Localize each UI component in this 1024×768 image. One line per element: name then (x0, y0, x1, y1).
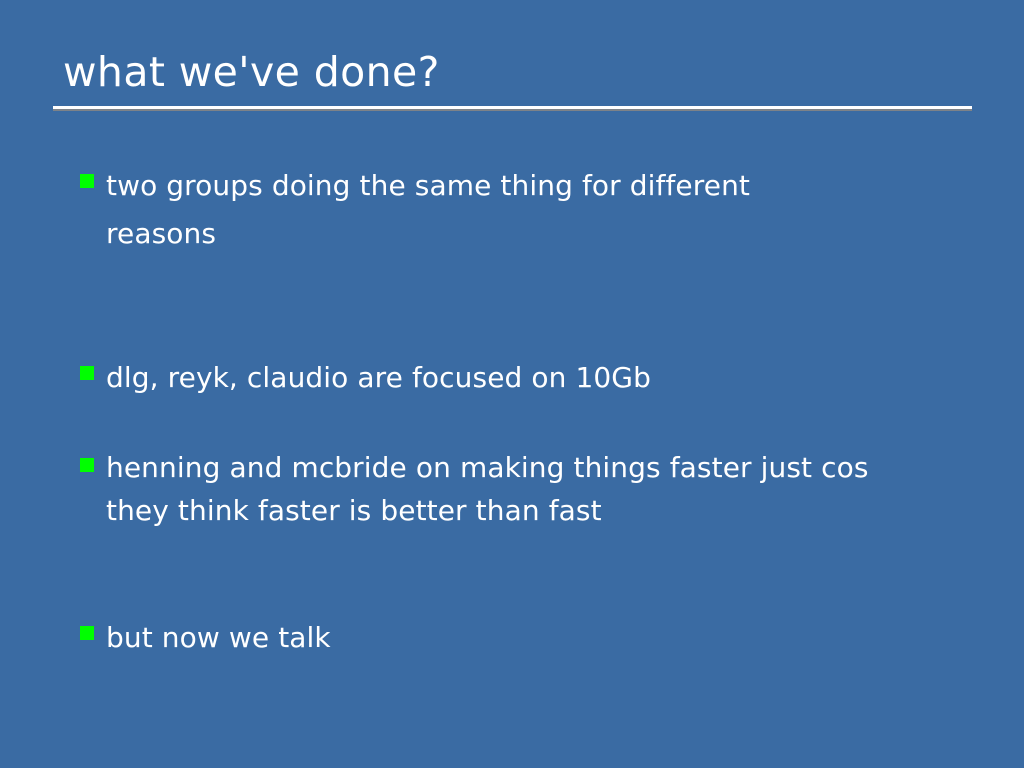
bullet-list-item-text: dlg, reyk, claudio are focused on 10Gb (106, 354, 980, 402)
title-divider-rule (53, 106, 972, 111)
bullet-list-item-text: henning and mcbride on making things fas… (106, 446, 980, 532)
bullet-list-item: but now we talk (80, 614, 980, 662)
bullet-list-item-text: but now we talk (106, 614, 980, 662)
bullet-list-item: two groups doing the same thing for diff… (80, 162, 980, 258)
square-bullet-icon (80, 366, 94, 380)
slide-title-block: what we've done? (53, 44, 972, 100)
bullet-list: two groups doing the same thing for diff… (80, 162, 980, 662)
presentation-slide: what we've done? two groups doing the sa… (0, 0, 1024, 768)
square-bullet-icon (80, 626, 94, 640)
bullet-list-item-text: two groups doing the same thing for diff… (106, 162, 980, 258)
bullet-list-item: henning and mcbride on making things fas… (80, 446, 980, 532)
bullet-list-item: dlg, reyk, claudio are focused on 10Gb (80, 354, 980, 402)
title-divider-shadow (53, 109, 972, 111)
slide-title: what we've done? (53, 44, 972, 100)
square-bullet-icon (80, 458, 94, 472)
square-bullet-icon (80, 174, 94, 188)
